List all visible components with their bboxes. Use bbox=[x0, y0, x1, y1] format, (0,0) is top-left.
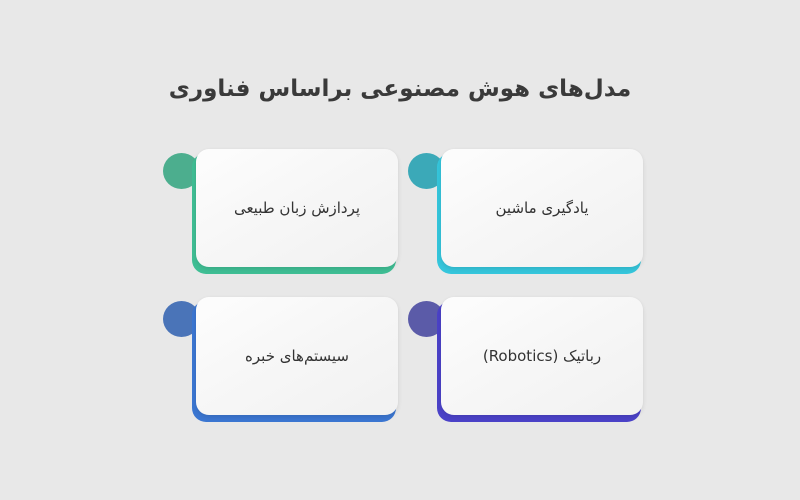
card-expert-systems[interactable]: سیستم‌های خبره bbox=[163, 297, 396, 422]
card-label: رباتیک (Robotics) bbox=[483, 345, 601, 368]
page-title: مدل‌های هوش مصنوعی براساس فناوری bbox=[0, 74, 800, 105]
card-nlp[interactable]: پردازش زبان طبیعی bbox=[163, 149, 396, 274]
card-grid: پردازش زبان طبیعی یادگیری ماشین سیستم‌ها… bbox=[160, 149, 640, 439]
card-label: پردازش زبان طبیعی bbox=[234, 197, 360, 220]
card-machine-learning[interactable]: یادگیری ماشین bbox=[408, 149, 641, 274]
card-label: یادگیری ماشین bbox=[496, 197, 589, 220]
card-label: سیستم‌های خبره bbox=[245, 345, 349, 368]
card-face[interactable]: یادگیری ماشین bbox=[441, 149, 643, 267]
card-face[interactable]: پردازش زبان طبیعی bbox=[196, 149, 398, 267]
slide-canvas: مدل‌های هوش مصنوعی براساس فناوری پردازش … bbox=[0, 0, 800, 500]
card-robotics[interactable]: رباتیک (Robotics) bbox=[408, 297, 641, 422]
card-face[interactable]: رباتیک (Robotics) bbox=[441, 297, 643, 415]
card-face[interactable]: سیستم‌های خبره bbox=[196, 297, 398, 415]
